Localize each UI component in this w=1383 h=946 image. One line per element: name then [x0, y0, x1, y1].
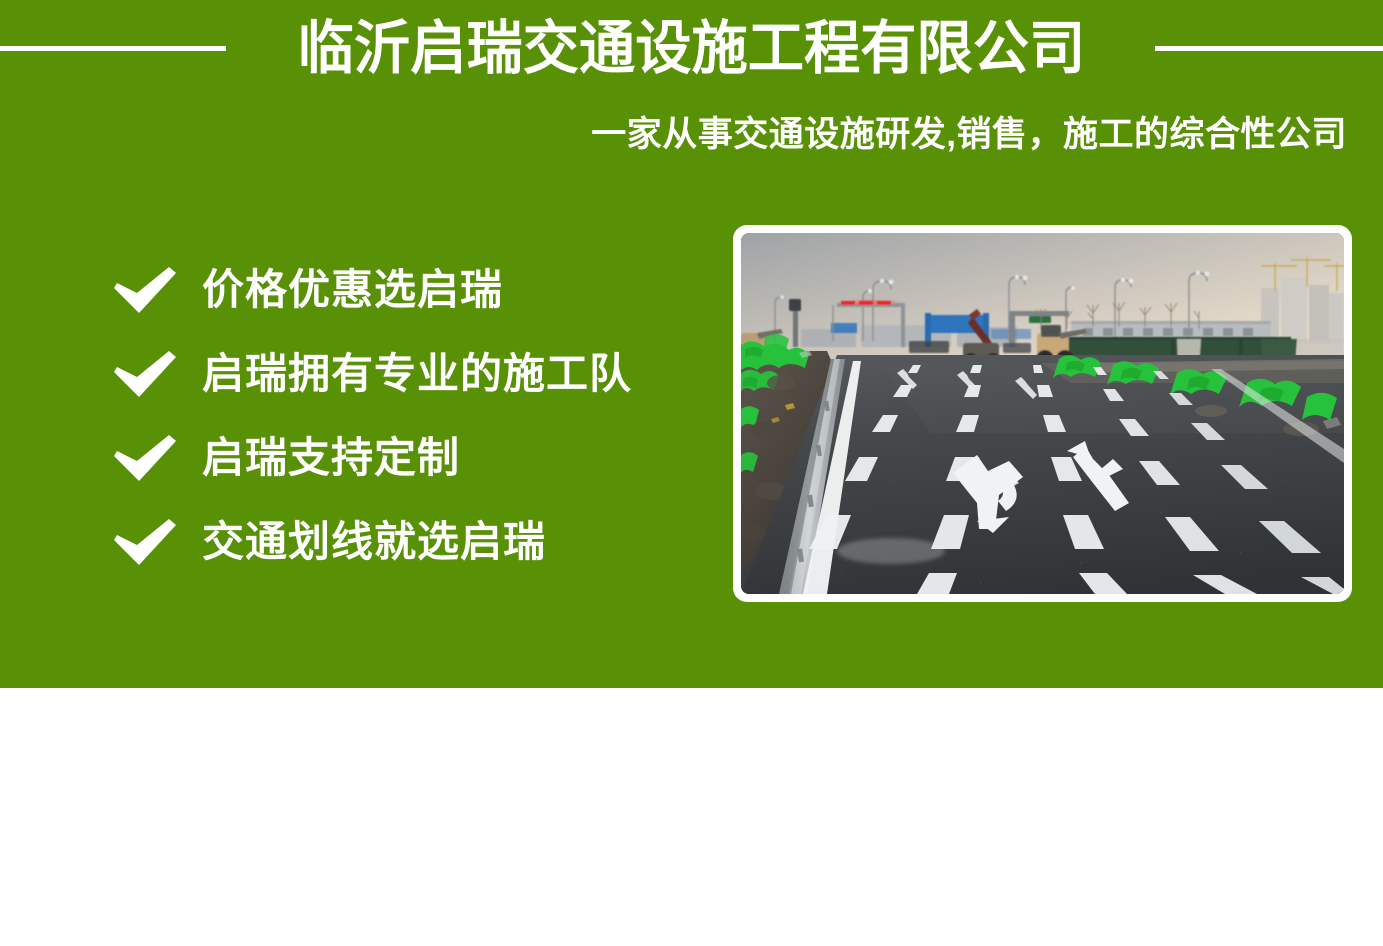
promo-banner-page: 临沂启瑞交通设施工程有限公司 一家从事交通设施研发,销售，施工的综合性公司 价格…: [0, 0, 1383, 946]
feature-label: 交通划线就选启瑞: [202, 516, 546, 568]
check-icon: [112, 348, 178, 400]
feature-item: 启瑞拥有专业的施工队: [112, 332, 692, 416]
feature-item: 启瑞支持定制: [112, 416, 692, 500]
photo-frame: [733, 225, 1352, 602]
check-icon: [112, 432, 178, 484]
feature-label: 启瑞支持定制: [202, 432, 460, 484]
feature-label: 价格优惠选启瑞: [202, 264, 503, 316]
check-icon: [112, 264, 178, 316]
feature-item: 交通划线就选启瑞: [112, 500, 692, 584]
company-subtitle: 一家从事交通设施研发,销售，施工的综合性公司: [591, 113, 1347, 157]
feature-list: 价格优惠选启瑞 启瑞拥有专业的施工队 启瑞支持定制: [112, 248, 692, 584]
feature-item: 价格优惠选启瑞: [112, 248, 692, 332]
check-icon: [112, 516, 178, 568]
road-marking-project-photo: [741, 233, 1344, 594]
company-title: 临沂启瑞交通设施工程有限公司: [21, 12, 1363, 86]
banner-header: 临沂启瑞交通设施工程有限公司: [0, 0, 1383, 105]
feature-label: 启瑞拥有专业的施工队: [202, 348, 632, 400]
